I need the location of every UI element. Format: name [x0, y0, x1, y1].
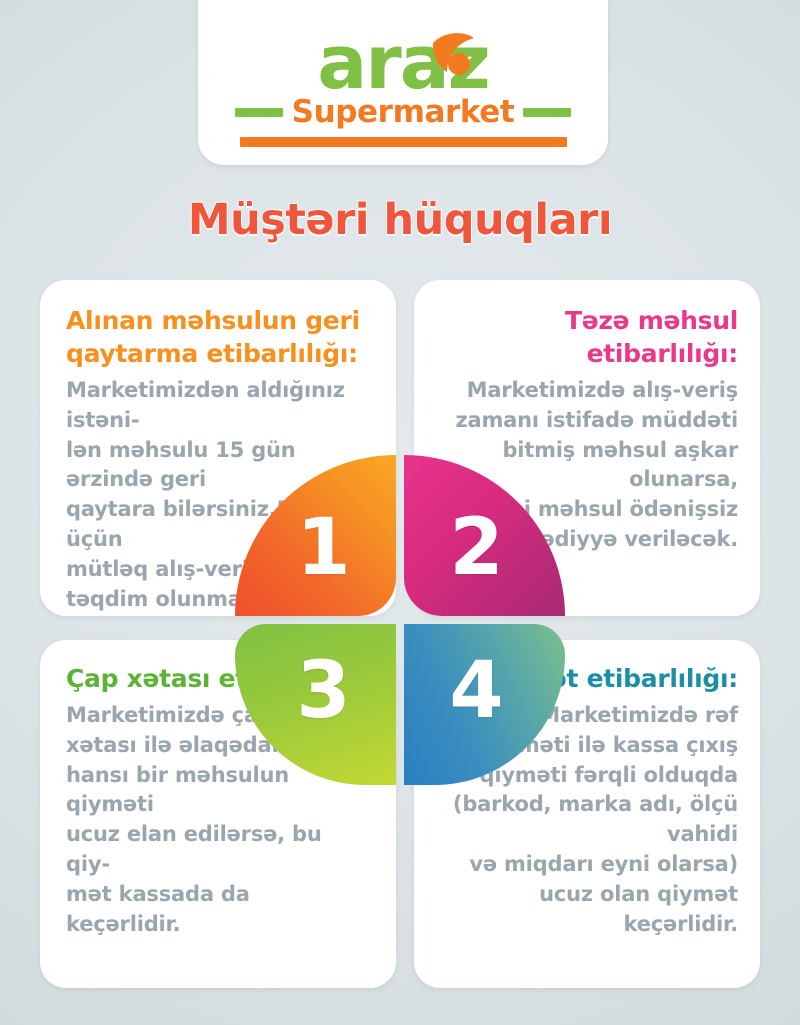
green-dash-right-icon: [523, 108, 571, 117]
orange-rule-divider: [240, 137, 567, 147]
card-title-3: Çap xətası etibarlılığı:: [66, 662, 370, 695]
araz-wordmark: araz: [317, 30, 488, 96]
card-title-1: Alınan məhsulun geri qaytarma etibarlılı…: [66, 304, 370, 370]
card-body-2: Marketimizdə alış-veriş zamanı istifadə …: [436, 376, 738, 555]
card-price-accuracy: Qiymət etibarlılığı: Marketimizdə rəf qi…: [414, 640, 760, 988]
wordmark-text: araz: [317, 26, 488, 100]
card-return-policy: Alınan məhsulun geri qaytarma etibarlılı…: [40, 280, 396, 616]
card-fresh-product: Təzə məhsul etibarlılığı: Marketimizdə a…: [414, 280, 760, 616]
card-body-4: Marketimizdə rəf qiyməti ilə kassa çıxış…: [436, 701, 738, 940]
card-body-1: Marketimizdən aldığınız istəni- lən məhs…: [66, 376, 370, 615]
card-print-error: Çap xətası etibarlılığı: Marketimizdə ça…: [40, 640, 396, 988]
card-title-4: Qiymət etibarlılığı:: [436, 662, 738, 695]
card-body-3: Marketimizdə çap xətası ilə əlaqədar hər…: [66, 701, 370, 940]
card-title-2: Təzə məhsul etibarlılığı:: [436, 304, 738, 370]
green-dash-left-icon: [235, 108, 283, 117]
page-title: Müştəri hüquqları: [0, 195, 800, 245]
logo-card: araz Supermarket: [198, 0, 608, 165]
